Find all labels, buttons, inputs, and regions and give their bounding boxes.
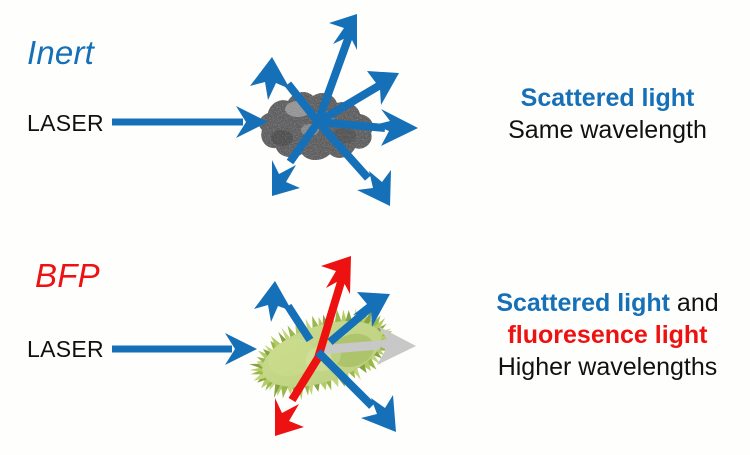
- fluor-arrow-down-left: [275, 358, 318, 436]
- beam-vector-layer: [0, 0, 750, 455]
- caption-segment-scattered-light: Scattered light: [496, 289, 670, 317]
- caption-segment-same-wavelength: Same wavelength: [508, 116, 707, 144]
- light-scattering-diagram: Inert BFP LASER LASER: [0, 0, 750, 455]
- scattered-beams-inert: [250, 14, 418, 206]
- caption-line: Same wavelength: [470, 114, 745, 146]
- caption-bfp: Scattered light and fluoresence light Hi…: [470, 287, 745, 383]
- scatter-arrow-down-right-bfp: [318, 352, 396, 432]
- caption-segment-higher-wavelengths: Higher wavelengths: [498, 353, 718, 381]
- scatter-arrow-down-left: [272, 122, 318, 196]
- caption-inert: Scattered light Same wavelength: [470, 82, 745, 146]
- caption-line: Scattered light and: [470, 287, 745, 319]
- laser-beam-bfp: [112, 333, 257, 365]
- caption-line: fluoresence light: [470, 319, 745, 351]
- caption-segment-and: and: [670, 289, 719, 317]
- scatter-arrow-down-right: [318, 122, 391, 206]
- laser-beam-inert: [112, 106, 268, 138]
- scatter-arrow-up-left-bfp: [254, 281, 310, 340]
- caption-line: Higher wavelengths: [470, 351, 745, 383]
- caption-line: Scattered light: [470, 82, 745, 114]
- transmitted-beam-bfp: [318, 326, 416, 365]
- caption-segment-fluoresence-light: fluoresence light: [507, 321, 707, 349]
- caption-segment-scattered-light: Scattered light: [521, 84, 695, 112]
- scatter-arrow-up-left: [250, 57, 318, 122]
